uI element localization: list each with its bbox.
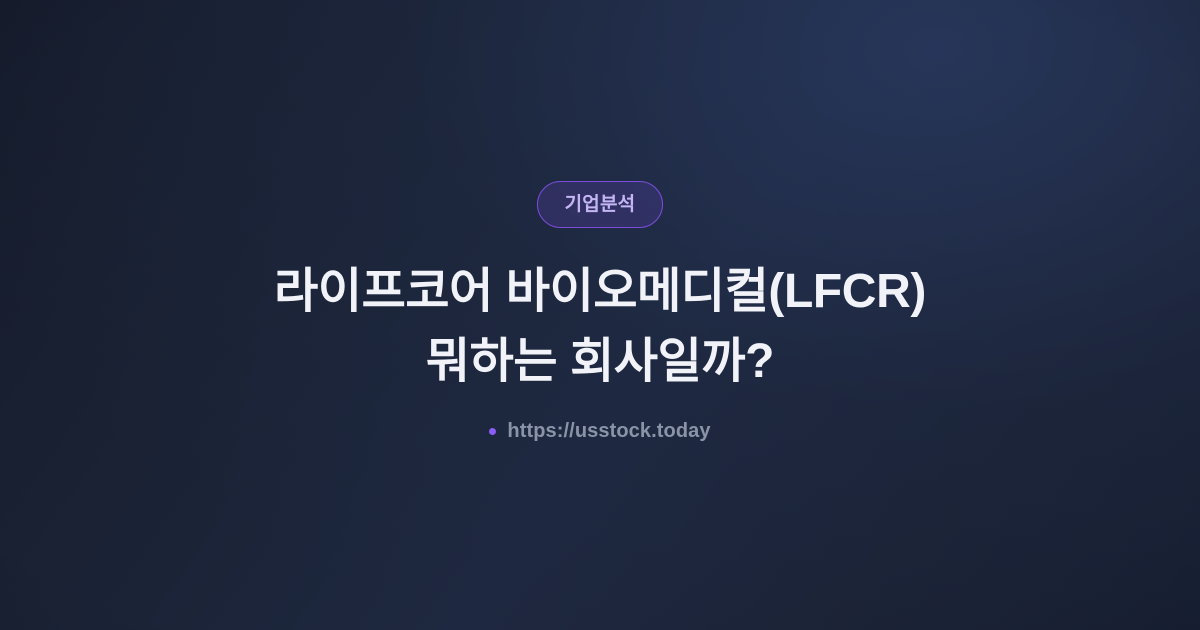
card-content: 기업분석 라이프코어 바이오메디컬(LFCR) 뭐하는 회사일까? https:…: [0, 181, 1200, 441]
bullet-dot-icon: [489, 428, 496, 435]
page-title: 라이프코어 바이오메디컬(LFCR) 뭐하는 회사일까?: [274, 257, 926, 397]
page-title-line-2: 뭐하는 회사일까?: [274, 327, 926, 397]
source-url-row: https://usstock.today: [489, 421, 710, 441]
og-share-card: 기업분석 라이프코어 바이오메디컬(LFCR) 뭐하는 회사일까? https:…: [0, 0, 1200, 630]
page-title-line-1: 라이프코어 바이오메디컬(LFCR): [274, 257, 926, 327]
source-url-label: https://usstock.today: [507, 421, 710, 441]
category-badge: 기업분석: [537, 181, 664, 228]
category-badge-label: 기업분석: [565, 195, 636, 214]
